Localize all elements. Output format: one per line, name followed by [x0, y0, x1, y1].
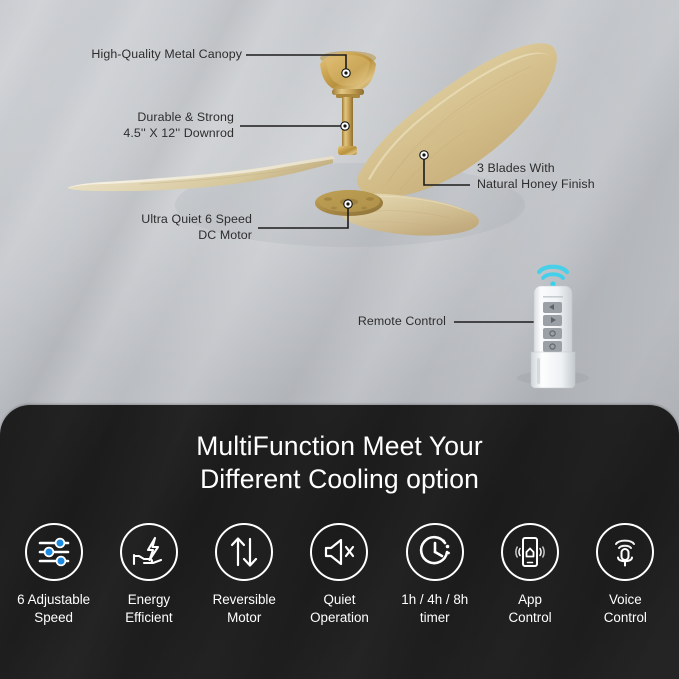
feature-label-line1: Quiet: [310, 591, 369, 609]
feature-item-voice-control: Voice Control: [578, 523, 673, 626]
callout-motor-line2: DC Motor: [66, 228, 252, 244]
feature-label-energy-efficient: Energy Efficient: [125, 591, 172, 626]
callout-canopy-text: High-Quality Metal Canopy: [91, 47, 242, 61]
feature-label-line2: Operation: [310, 609, 369, 627]
callout-downrod-line2: 4.5'' X 12'' Downrod: [56, 126, 234, 142]
panel-heading-line2: Different Cooling option: [0, 463, 679, 496]
callout-remote-text: Remote Control: [358, 314, 446, 328]
callout-label-remote: Remote Control: [282, 314, 446, 330]
feature-label-timer: 1h / 4h / 8h timer: [401, 591, 468, 626]
phone-home-icon: [501, 523, 559, 581]
feature-label-line1: Voice: [604, 591, 647, 609]
sliders-icon: [25, 523, 83, 581]
callout-label-canopy: High-Quality Metal Canopy: [56, 47, 242, 63]
callout-blades-line1: 3 Blades With: [477, 161, 667, 177]
callout-downrod-line1: Durable & Strong: [56, 110, 234, 126]
callout-label-motor: Ultra Quiet 6 Speed DC Motor: [66, 212, 252, 243]
feature-label-line2: Control: [508, 609, 551, 627]
feature-label-line1: Reversible: [213, 591, 276, 609]
up-down-arrows-icon: [215, 523, 273, 581]
feature-label-adjustable-speed: 6 Adjustable Speed: [17, 591, 90, 626]
signal-waves-icon: [539, 267, 567, 287]
remote-control-image: [517, 267, 589, 388]
feature-label-line2: timer: [401, 609, 468, 627]
callout-motor-line1: Ultra Quiet 6 Speed: [66, 212, 252, 228]
feature-label-line2: Motor: [213, 609, 276, 627]
panel-heading-line1: MultiFunction Meet Your: [0, 430, 679, 463]
clock-timer-icon: [406, 523, 464, 581]
speaker-mute-icon: [310, 523, 368, 581]
panel-heading: MultiFunction Meet Your Different Coolin…: [0, 430, 679, 496]
feature-item-adjustable-speed: 6 Adjustable Speed: [6, 523, 101, 626]
callout-blades-line2: Natural Honey Finish: [477, 177, 667, 193]
features-panel: MultiFunction Meet Your Different Coolin…: [0, 405, 679, 679]
microphone-icon: [596, 523, 654, 581]
feature-label-line1: 1h / 4h / 8h: [401, 591, 468, 609]
feature-label-line1: App: [508, 591, 551, 609]
feature-label-line2: Control: [604, 609, 647, 627]
feature-item-app-control: App Control: [482, 523, 577, 626]
feature-label-voice-control: Voice Control: [604, 591, 647, 626]
hand-bolt-icon: [120, 523, 178, 581]
feature-label-line2: Efficient: [125, 609, 172, 627]
ceiling-fan-image: [0, 0, 679, 420]
callout-label-blades: 3 Blades With Natural Honey Finish: [477, 161, 667, 192]
feature-label-app-control: App Control: [508, 591, 551, 626]
feature-item-reversible-motor: Reversible Motor: [197, 523, 292, 626]
feature-item-quiet-operation: Quiet Operation: [292, 523, 387, 626]
feature-label-line1: 6 Adjustable: [17, 591, 90, 609]
feature-item-energy-efficient: Energy Efficient: [101, 523, 196, 626]
callout-label-downrod: Durable & Strong 4.5'' X 12'' Downrod: [56, 110, 234, 141]
feature-list: 6 Adjustable Speed: [6, 523, 673, 626]
feature-label-reversible-motor: Reversible Motor: [213, 591, 276, 626]
feature-label-line1: Energy: [125, 591, 172, 609]
feature-item-timer: 1h / 4h / 8h timer: [387, 523, 482, 626]
product-infographic: High-Quality Metal Canopy Durable & Stro…: [0, 0, 679, 679]
feature-label-quiet-operation: Quiet Operation: [310, 591, 369, 626]
feature-label-line2: Speed: [17, 609, 90, 627]
